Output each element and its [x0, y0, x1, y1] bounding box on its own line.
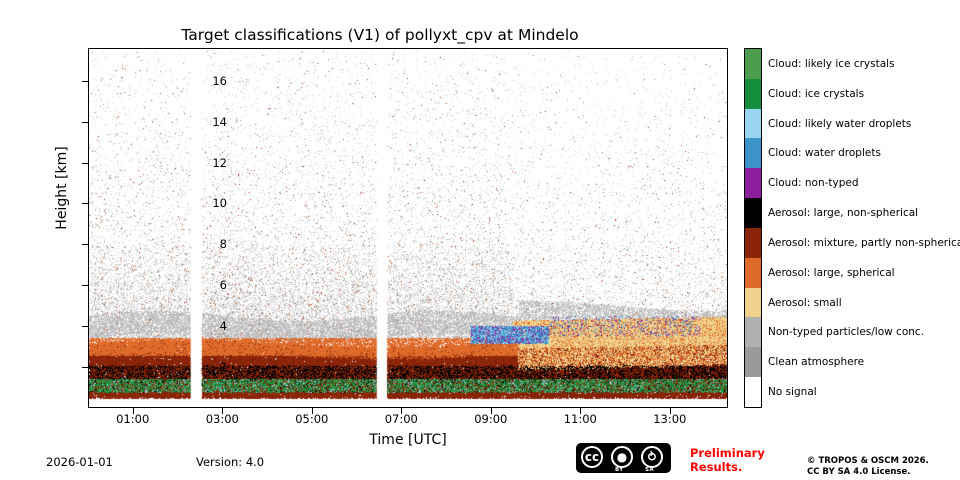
x-tick-label: 07:00	[385, 412, 418, 426]
y-tick-label: 2	[220, 360, 227, 374]
y-tick-mark	[82, 244, 88, 245]
preliminary-line-2: Results.	[690, 460, 765, 474]
credit-line-1: © TROPOS & OSCM 2026.	[807, 456, 929, 467]
footer-version: Version: 4.0	[196, 455, 264, 469]
colorbar-segment	[745, 288, 761, 318]
colorbar-label: Cloud: non-typed	[768, 177, 859, 189]
cc-sa-icon: ⥁	[641, 446, 663, 468]
colorbar-segment	[745, 228, 761, 258]
y-tick-label: 6	[220, 278, 227, 292]
plot-area	[88, 48, 728, 408]
figure-root: Target classifications (V1) of pollyxt_c…	[0, 0, 960, 480]
colorbar-label: Aerosol: small	[768, 297, 842, 309]
colorbar-segment	[745, 79, 761, 109]
footer-date: 2026-01-01	[46, 455, 113, 469]
cc-by-label: BY	[615, 467, 624, 473]
x-tick-mark	[401, 408, 402, 414]
colorbar-segment	[745, 198, 761, 228]
y-tick-mark	[82, 122, 88, 123]
colorbar	[744, 48, 762, 408]
colorbar-segment	[745, 317, 761, 347]
classification-scatter-canvas	[89, 49, 727, 407]
y-tick-mark	[82, 285, 88, 286]
x-tick-label: 11:00	[564, 412, 597, 426]
x-tick-label: 03:00	[206, 412, 239, 426]
x-tick-label: 01:00	[116, 412, 149, 426]
colorbar-segment	[745, 347, 761, 377]
colorbar-segment	[745, 168, 761, 198]
colorbar-label: Cloud: likely ice crystals	[768, 58, 895, 70]
y-tick-label: 8	[220, 237, 227, 251]
x-tick-mark	[222, 408, 223, 414]
cc-license-badge: cc ● ⥁ BY SA	[576, 443, 671, 473]
preliminary-results-note: Preliminary Results.	[690, 446, 765, 474]
colorbar-label: Aerosol: large, spherical	[768, 267, 895, 279]
cc-by-icon: ●	[611, 446, 633, 468]
x-tick-mark	[312, 408, 313, 414]
colorbar-segment	[745, 258, 761, 288]
x-tick-mark	[133, 408, 134, 414]
y-tick-label: 16	[212, 74, 227, 88]
y-tick-mark	[82, 163, 88, 164]
cc-icon: cc	[581, 446, 603, 468]
colorbar-label: Cloud: likely water droplets	[768, 118, 911, 130]
y-tick-mark	[82, 326, 88, 327]
x-tick-mark	[670, 408, 671, 414]
y-tick-label: 10	[212, 196, 227, 210]
colorbar-label: Aerosol: large, non-spherical	[768, 207, 918, 219]
y-tick-mark	[82, 367, 88, 368]
cc-sa-label: SA	[645, 467, 654, 473]
credit-line-2: CC BY SA 4.0 License.	[807, 467, 929, 478]
colorbar-label: Aerosol: mixture, partly non-spherical	[768, 237, 960, 249]
y-tick-label: 4	[220, 319, 227, 333]
y-tick-label: 14	[212, 115, 227, 129]
colorbar-label: Cloud: water droplets	[768, 147, 881, 159]
y-tick-mark	[82, 81, 88, 82]
colorbar-segment	[745, 109, 761, 139]
x-tick-label: 05:00	[295, 412, 328, 426]
preliminary-line-1: Preliminary	[690, 446, 765, 460]
x-tick-mark	[580, 408, 581, 414]
x-tick-label: 09:00	[474, 412, 507, 426]
credit-note: © TROPOS & OSCM 2026. CC BY SA 4.0 Licen…	[807, 456, 929, 478]
colorbar-segment	[745, 138, 761, 168]
y-tick-label: 12	[212, 156, 227, 170]
chart-title: Target classifications (V1) of pollyxt_c…	[0, 26, 760, 44]
colorbar-label: Non-typed particles/low conc.	[768, 326, 924, 338]
y-axis-label: Height [km]	[54, 88, 70, 288]
colorbar-segment	[745, 377, 761, 407]
x-tick-label: 13:00	[653, 412, 686, 426]
colorbar-label: Clean atmosphere	[768, 356, 864, 368]
colorbar-label: Cloud: ice crystals	[768, 88, 864, 100]
colorbar-label: No signal	[768, 386, 817, 398]
x-tick-mark	[491, 408, 492, 414]
colorbar-segment	[745, 49, 761, 79]
y-tick-mark	[82, 203, 88, 204]
